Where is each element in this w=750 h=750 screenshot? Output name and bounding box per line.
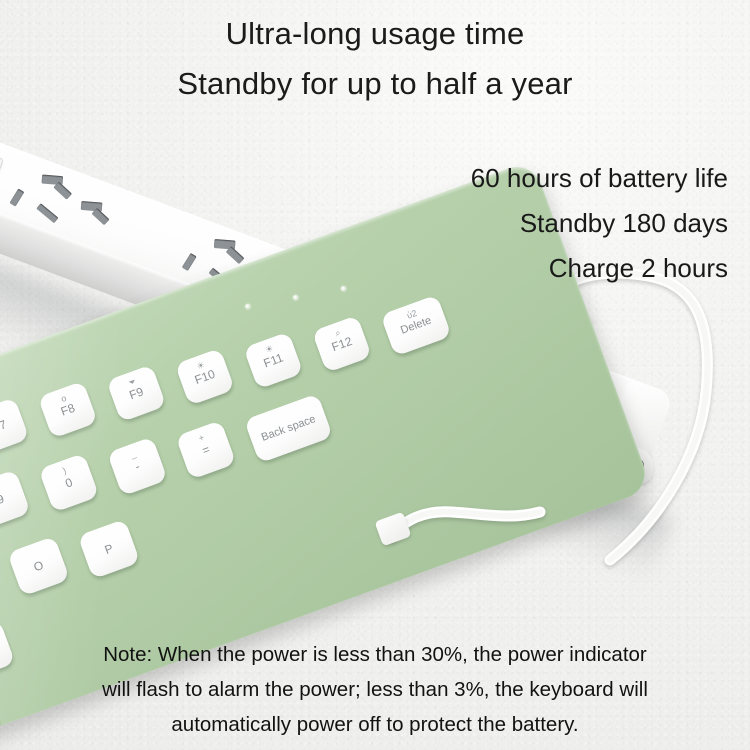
footnote-line-2: will flash to alarm the power; less than… [0,672,750,707]
product-marketing-image: ⏮ F5 ⏯ F6 ⏭ F7 ᴏ F8 ⏷ F9 ☀ F10 ☀ F11 ⌕ F [0,0,750,750]
spec-battery-life: 60 hours of battery life [471,163,728,194]
footnote: Note: When the power is less than 30%, t… [0,637,750,742]
footnote-line-1: Note: When the power is less than 30%, t… [0,637,750,672]
spec-standby: Standby 180 days [471,208,728,239]
headline-primary: Ultra-long usage time [0,16,750,52]
spec-list: 60 hours of battery life Standby 180 day… [471,163,728,298]
footnote-line-3: automatically power off to protect the b… [0,707,750,742]
spec-charge-time: Charge 2 hours [471,253,728,284]
headline-secondary: Standby for up to half a year [0,66,750,102]
